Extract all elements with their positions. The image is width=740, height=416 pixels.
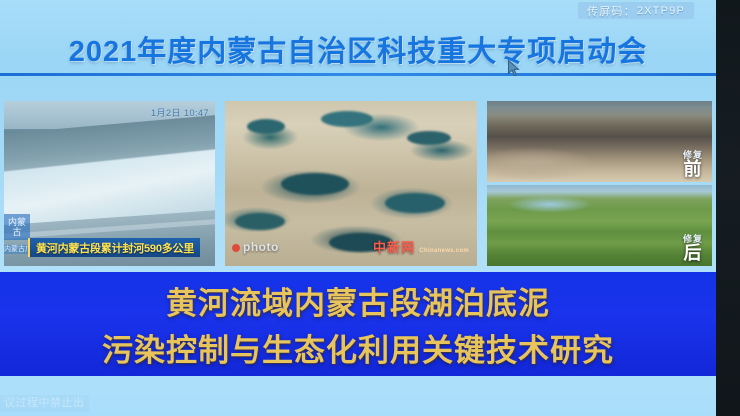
lake-pond — [321, 111, 373, 127]
before-label: 修复 前 — [683, 151, 703, 178]
chinanews-watermark: 中新网 Chinanews.com — [373, 242, 469, 257]
photo-source-watermark: photo — [232, 240, 279, 254]
river-photo: 1月2日 10:47 内蒙古 内蒙古广播电视台 黄河内蒙古段累计封河590多公里 — [4, 101, 215, 266]
photo-watermark-text: photo — [243, 240, 279, 254]
lake-pond — [385, 193, 445, 213]
after-restoration-photo: 修复 后 — [487, 185, 712, 266]
lake-pond — [235, 213, 285, 230]
right-letterbox — [716, 0, 740, 416]
lake-pond — [281, 173, 349, 195]
lake-pond — [247, 119, 285, 134]
after-label: 修复 后 — [683, 235, 703, 262]
footer-watermark: 议过程中禁止出 — [0, 395, 89, 412]
photo-watermark-dot-icon — [232, 244, 240, 252]
header-divider — [0, 73, 716, 76]
channel-sublabel: 内蒙古广播电视台 — [4, 245, 30, 254]
before-label-big: 前 — [683, 160, 703, 178]
chinanews-watermark-cn: 中新网 — [373, 240, 415, 255]
photo-band: 1月2日 10:47 内蒙古 内蒙古广播电视台 黄河内蒙古段累计封河590多公里… — [0, 98, 716, 268]
transmit-code-value: 2XTP9P — [637, 5, 685, 17]
before-restoration-photo: 修复 前 — [487, 101, 712, 182]
page-title: 2021年度内蒙古自治区科技重大专项启动会 — [0, 28, 716, 70]
project-title-block: 黄河流域内蒙古段湖泊底泥 污染控制与生态化利用关键技术研究 — [0, 272, 716, 376]
lake-pond — [407, 131, 451, 145]
channel-logo: 内蒙古 — [4, 214, 30, 240]
presentation-screen: 传屏码： 2XTP9P 2021年度内蒙古自治区科技重大专项启动会 1月2日 1… — [0, 0, 740, 416]
after-label-big: 后 — [683, 244, 703, 262]
broadcast-timestamp: 1月2日 10:47 — [151, 106, 209, 119]
project-title-line-1: 黄河流域内蒙古段湖泊底泥 — [166, 278, 550, 323]
lake-aerial-photo: photo 中新网 Chinanews.com — [225, 101, 477, 266]
transmit-code-badge: 传屏码： 2XTP9P — [578, 2, 694, 19]
project-title-line-2: 污染控制与生态化利用关键技术研究 — [102, 325, 614, 370]
news-ticker: 黄河内蒙古段累计封河590多公里 — [28, 238, 200, 257]
chinanews-watermark-en: Chinanews.com — [419, 248, 469, 254]
slide-header: 2021年度内蒙古自治区科技重大专项启动会 — [0, 20, 716, 78]
transmit-code-label: 传屏码： — [587, 3, 636, 19]
slide-surface: 传屏码： 2XTP9P 2021年度内蒙古自治区科技重大专项启动会 1月2日 1… — [0, 0, 716, 416]
